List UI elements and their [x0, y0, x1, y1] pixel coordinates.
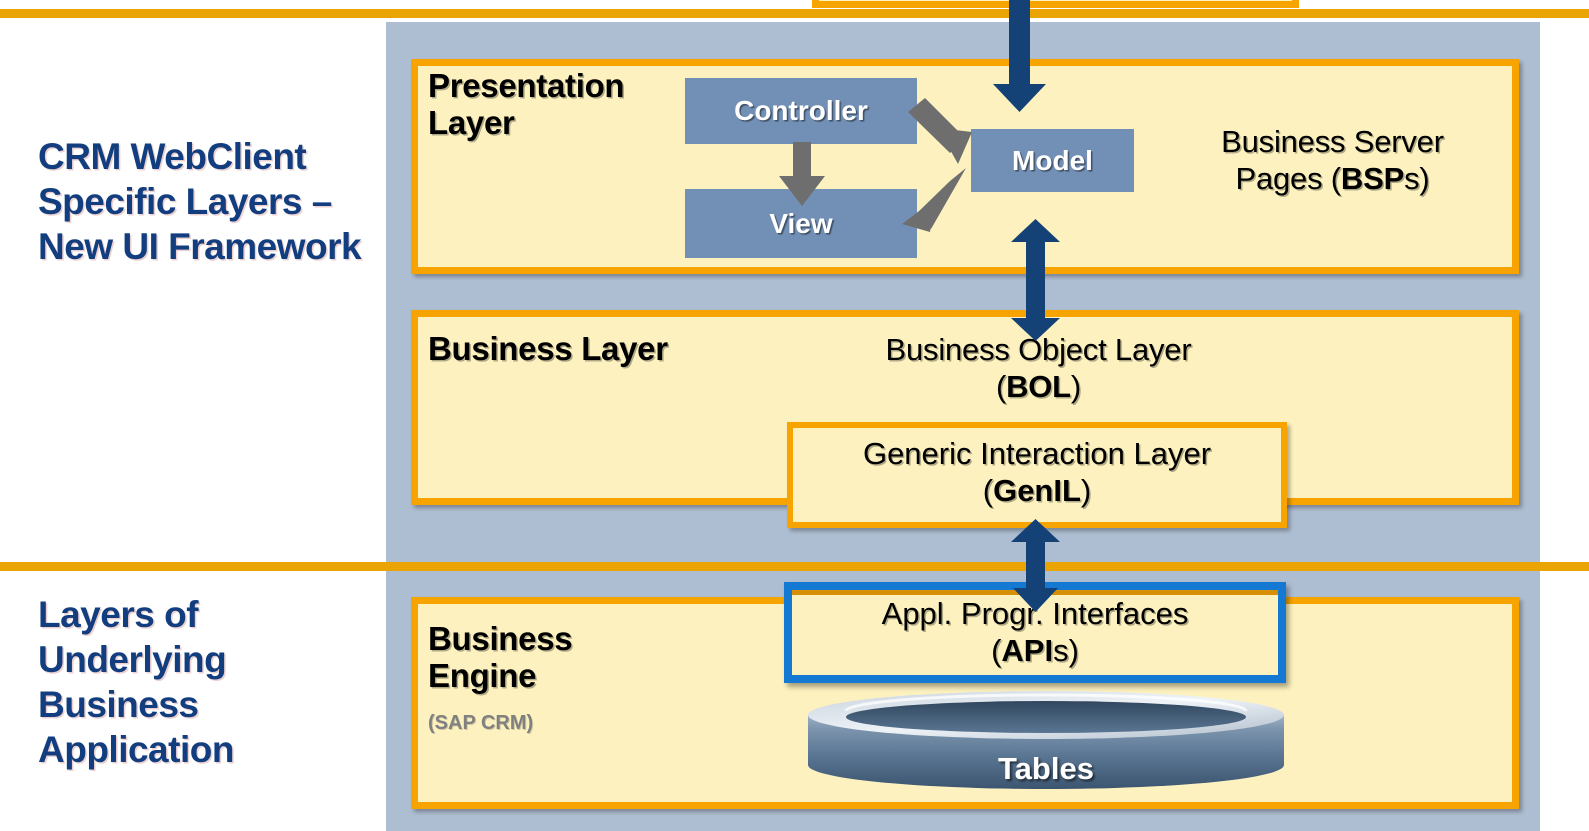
apis-line-2-suffix: s) — [1053, 633, 1079, 668]
section-label-underlying-business-application: Layers of Underlying Business Applicatio… — [38, 592, 368, 773]
apis-caption: Appl. Progr. Interfaces (APIs) — [788, 596, 1282, 669]
view-block[interactable]: View — [685, 189, 917, 258]
divider-rule-middle — [0, 562, 1589, 571]
genil-line-2-suffix: ) — [1081, 473, 1091, 508]
model-label: Model — [1012, 145, 1093, 177]
bsp-acronym: BSP — [1341, 161, 1404, 196]
business-object-layer-caption: Business Object Layer (BOL) — [790, 332, 1287, 405]
genil-line-1: Generic Interaction Layer — [863, 436, 1211, 471]
controller-label: Controller — [734, 95, 868, 127]
business-server-pages-caption: Business Server Pages (BSPs) — [1160, 124, 1505, 197]
presentation-layer-title: Presentation Layer — [428, 67, 688, 142]
genil-line-2-prefix: ( — [983, 473, 993, 508]
clipped-upper-box — [812, 0, 1299, 8]
apis-line-2-prefix: ( — [991, 633, 1001, 668]
apis-acronym: API — [1001, 633, 1053, 668]
generic-interaction-layer-caption: Generic Interaction Layer (GenIL) — [790, 436, 1284, 509]
view-label: View — [769, 208, 832, 240]
bsp-line-2-prefix: Pages ( — [1235, 161, 1340, 196]
bsp-line-2-suffix: s) — [1404, 161, 1429, 196]
bsp-line-1: Business Server — [1221, 124, 1444, 159]
business-engine-title: Business Engine — [428, 620, 688, 695]
model-block[interactable]: Model — [971, 129, 1134, 192]
bol-line-1: Business Object Layer — [886, 332, 1192, 367]
business-layer-title: Business Layer — [428, 330, 688, 367]
business-engine-subtitle: (SAP CRM) — [428, 712, 533, 735]
bol-line-2-suffix: ) — [1071, 369, 1081, 404]
controller-block[interactable]: Controller — [685, 78, 917, 144]
bol-acronym: BOL — [1006, 369, 1071, 404]
database-cylinder-icon — [808, 691, 1284, 799]
diagram-canvas: CRM WebClient Specific Layers – New UI F… — [0, 0, 1589, 831]
apis-line-1: Appl. Progr. Interfaces — [882, 596, 1189, 631]
apis-box-inner-rule — [792, 590, 1278, 595]
divider-rule-top — [0, 9, 1589, 18]
bol-line-2-prefix: ( — [996, 369, 1006, 404]
section-label-crm-webclient-layers: CRM WebClient Specific Layers – New UI F… — [38, 134, 368, 269]
genil-acronym: GenIL — [993, 473, 1081, 508]
